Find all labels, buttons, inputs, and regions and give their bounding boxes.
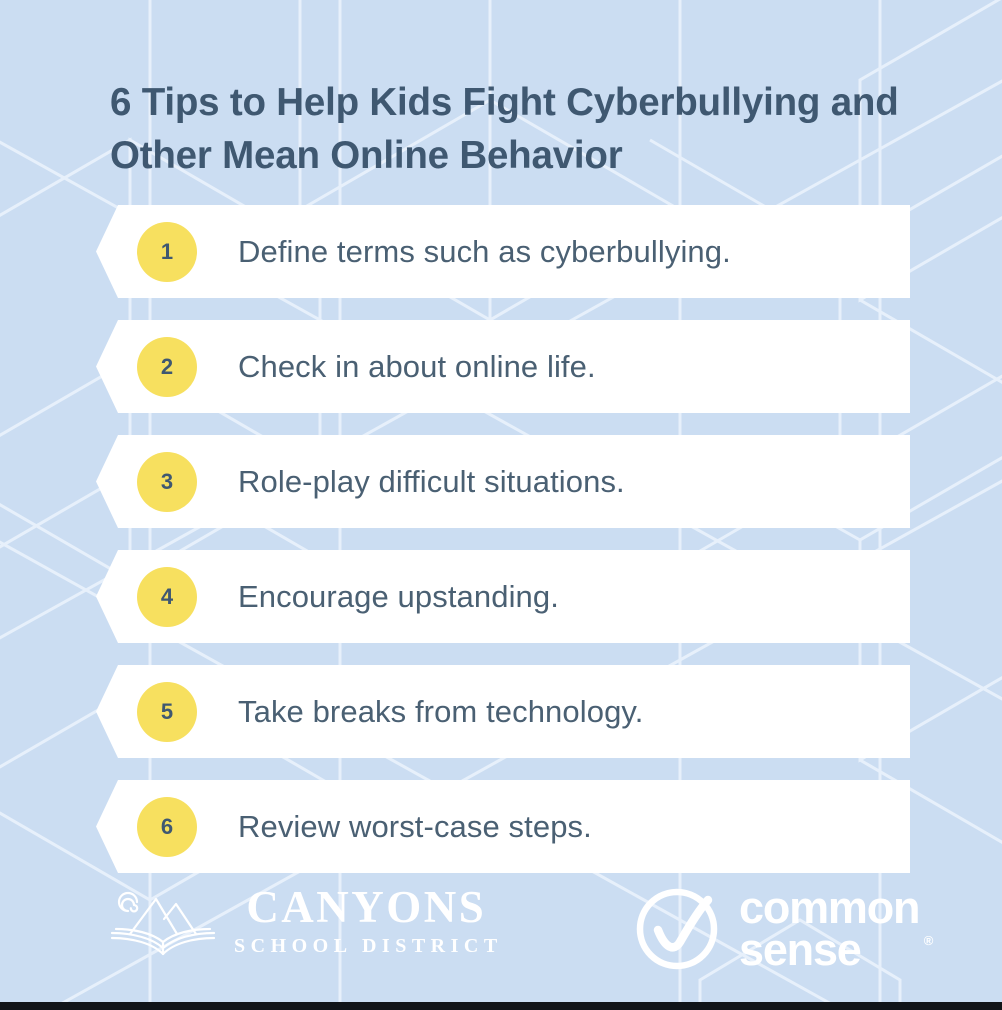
tip-text: Take breaks from technology. <box>238 694 643 730</box>
tip-number-badge: 6 <box>137 797 197 857</box>
tip-text: Review worst-case steps. <box>238 809 592 845</box>
list-item: 5 Take breaks from technology. <box>96 665 910 758</box>
registered-trademark-icon: ® <box>924 935 934 947</box>
tip-number-badge: 2 <box>137 337 197 397</box>
tip-number-badge: 5 <box>137 682 197 742</box>
canyons-wordmark: CANYONS SCHOOL DISTRICT <box>230 885 503 956</box>
common-sense-line-2-text: sense <box>739 924 861 975</box>
common-sense-line-1: common <box>739 887 919 929</box>
footer-logos: CANYONS SCHOOL DISTRICT common sense ® <box>0 878 1002 983</box>
mountain-sun-book-icon <box>104 880 222 960</box>
common-sense-wordmark: common sense ® <box>739 887 919 971</box>
list-item: 2 Check in about online life. <box>96 320 910 413</box>
list-item: 3 Role-play difficult situations. <box>96 435 910 528</box>
canyons-subtitle: SCHOOL DISTRICT <box>234 936 503 956</box>
tips-list: 1 Define terms such as cyberbullying. 2 … <box>96 205 910 895</box>
common-sense-logo: common sense ® <box>632 884 919 974</box>
tip-number-badge: 3 <box>137 452 197 512</box>
tip-text: Define terms such as cyberbullying. <box>238 234 731 270</box>
check-circle-icon <box>632 884 722 974</box>
tip-number-badge: 1 <box>137 222 197 282</box>
canyons-school-district-logo: CANYONS SCHOOL DISTRICT <box>104 880 503 960</box>
list-item: 6 Review worst-case steps. <box>96 780 910 873</box>
tip-text: Encourage upstanding. <box>238 579 559 615</box>
bottom-bar <box>0 1002 1002 1010</box>
page-title: 6 Tips to Help Kids Fight Cyberbullying … <box>110 76 920 182</box>
tip-number-badge: 4 <box>137 567 197 627</box>
canyons-name: CANYONS <box>246 885 486 930</box>
list-item: 4 Encourage upstanding. <box>96 550 910 643</box>
list-item: 1 Define terms such as cyberbullying. <box>96 205 910 298</box>
tip-text: Check in about online life. <box>238 349 596 385</box>
tip-text: Role-play difficult situations. <box>238 464 625 500</box>
infographic-poster: 6 Tips to Help Kids Fight Cyberbullying … <box>0 0 1002 1010</box>
common-sense-line-2: sense ® <box>739 929 919 971</box>
